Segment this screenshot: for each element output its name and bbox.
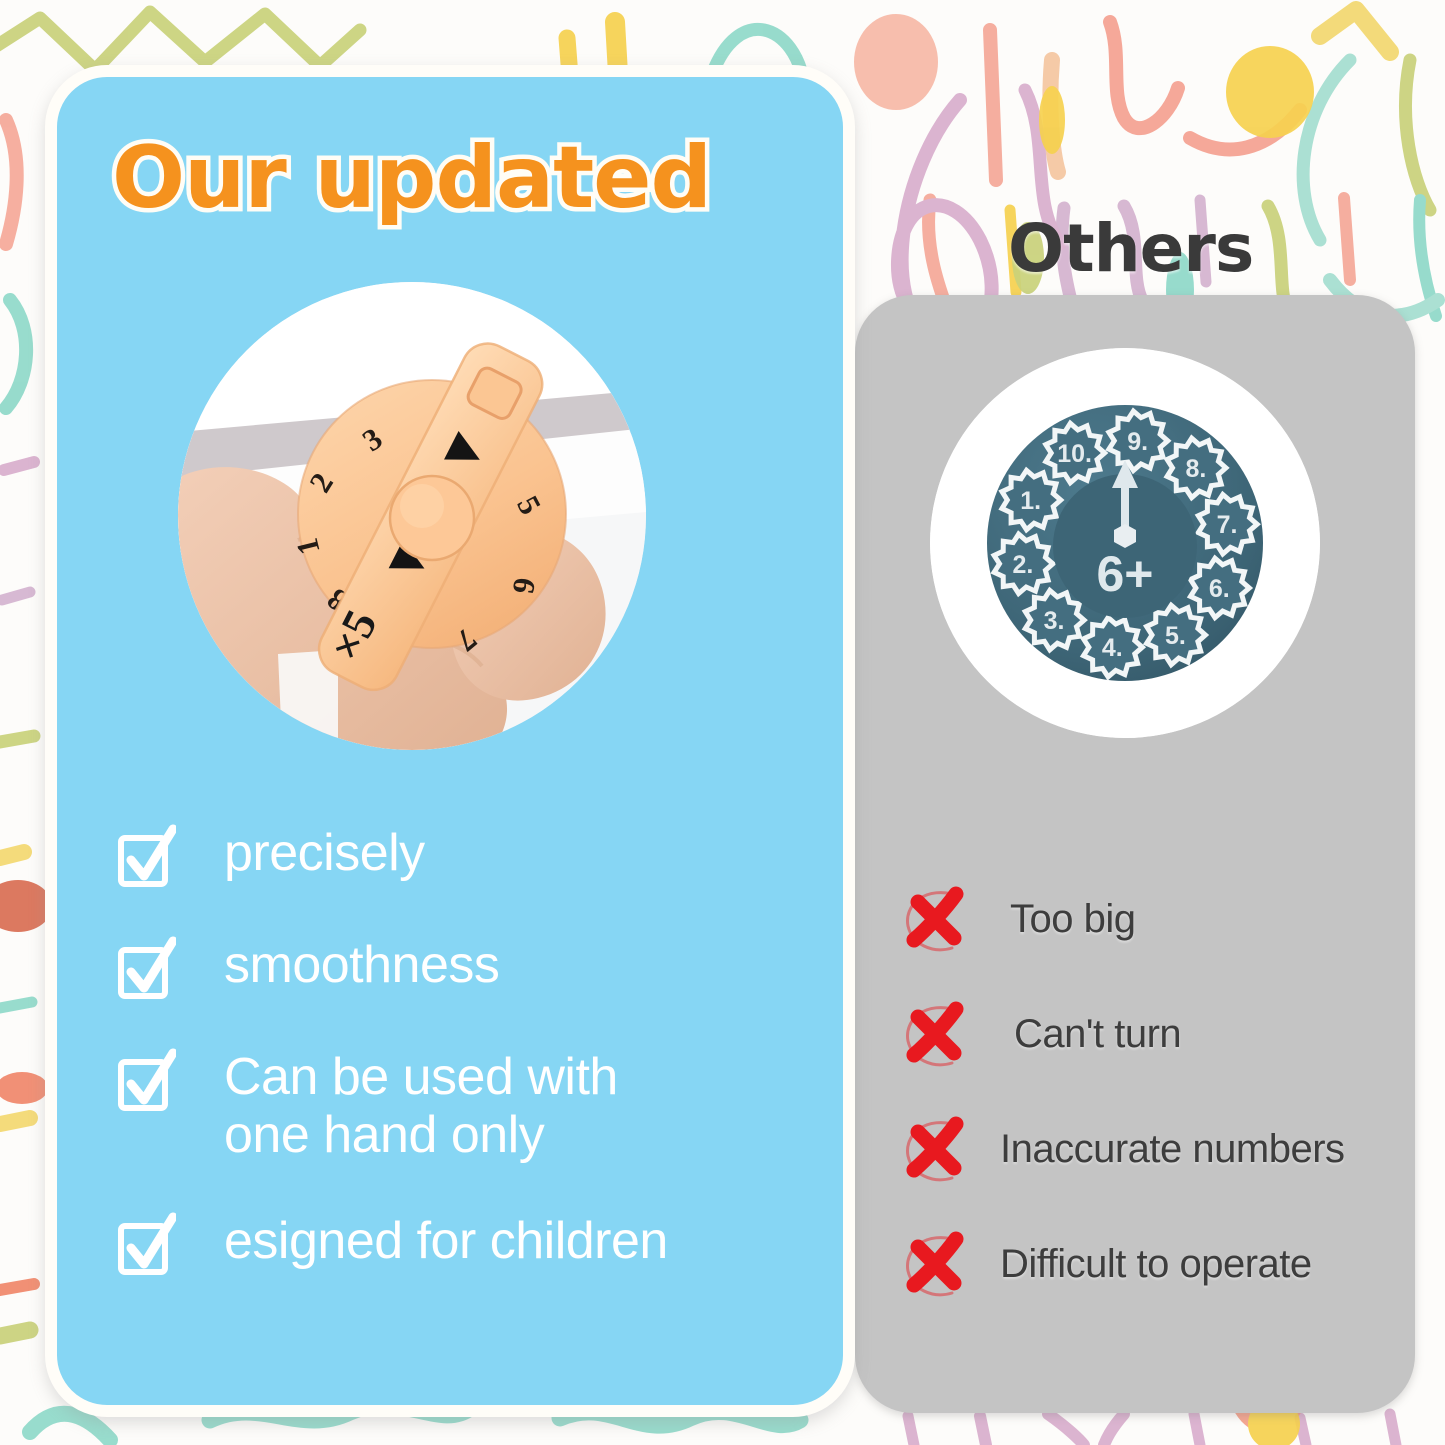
- red-x-icon: [902, 1114, 978, 1184]
- drawback-list: Too big Can't turn Inaccurate number: [902, 884, 1422, 1344]
- our-updated-product-photo: 2 3 4 5 6 7 8 1: [178, 282, 646, 750]
- feature-row[interactable]: esigned for children: [118, 1210, 818, 1276]
- feature-label: Can be used with one hand only: [224, 1046, 618, 1164]
- gear-number-label: 9.: [1127, 428, 1148, 456]
- feature-row[interactable]: smoothness: [118, 934, 818, 1000]
- drawback-label: Too big: [1010, 897, 1135, 941]
- feature-row[interactable]: precisely: [118, 822, 818, 888]
- feature-row[interactable]: Can be used with one hand only: [118, 1046, 818, 1164]
- drawback-label: Can't turn: [1014, 1012, 1181, 1056]
- feature-list: precisely smoothness Can be used with on…: [118, 822, 818, 1322]
- gear-number-label: 10.: [1057, 440, 1092, 468]
- gear-number-label: 8.: [1185, 455, 1206, 483]
- our-updated-heading: Our updated: [112, 128, 711, 228]
- gear-number-label: 2.: [1012, 551, 1033, 579]
- gear-number-label: 3.: [1044, 607, 1065, 635]
- drawback-row[interactable]: Can't turn: [902, 999, 1422, 1069]
- svg-text:6+: 6+: [1096, 546, 1153, 602]
- red-x-icon: [902, 999, 978, 1069]
- feature-label: smoothness: [224, 934, 499, 994]
- gear-number-label: 1.: [1020, 487, 1041, 515]
- checkbox-check-icon: [118, 1048, 176, 1112]
- red-x-icon: [902, 1229, 978, 1299]
- feature-label: precisely: [224, 822, 425, 882]
- gear-number-label: 4.: [1102, 634, 1123, 662]
- checkbox-check-icon: [118, 936, 176, 1000]
- drawback-row[interactable]: Difficult to operate: [902, 1229, 1422, 1299]
- gear-number-label: 5.: [1165, 622, 1186, 650]
- comparison-infographic: Our updated Others: [0, 0, 1445, 1445]
- others-heading: Others: [1008, 210, 1253, 287]
- others-product-photo: 1.2.3.4.5.6.7.8.9.10. 6+: [930, 348, 1320, 738]
- teal-gear-wheel-illustration: 1.2.3.4.5.6.7.8.9.10. 6+: [930, 348, 1320, 738]
- drawback-row[interactable]: Too big: [902, 884, 1422, 954]
- gear-number-label: 6.: [1209, 575, 1230, 603]
- drawback-label: Inaccurate numbers: [1000, 1127, 1345, 1171]
- red-x-icon: [902, 884, 978, 954]
- orange-dial-illustration: 2 3 4 5 6 7 8 1: [178, 282, 646, 750]
- checkbox-check-icon: [118, 824, 176, 888]
- checkbox-check-icon: [118, 1212, 176, 1276]
- gear-number-label: 7.: [1217, 511, 1238, 539]
- feature-label: esigned for children: [224, 1210, 668, 1270]
- drawback-label: Difficult to operate: [1000, 1242, 1312, 1286]
- drawback-row[interactable]: Inaccurate numbers: [902, 1114, 1422, 1184]
